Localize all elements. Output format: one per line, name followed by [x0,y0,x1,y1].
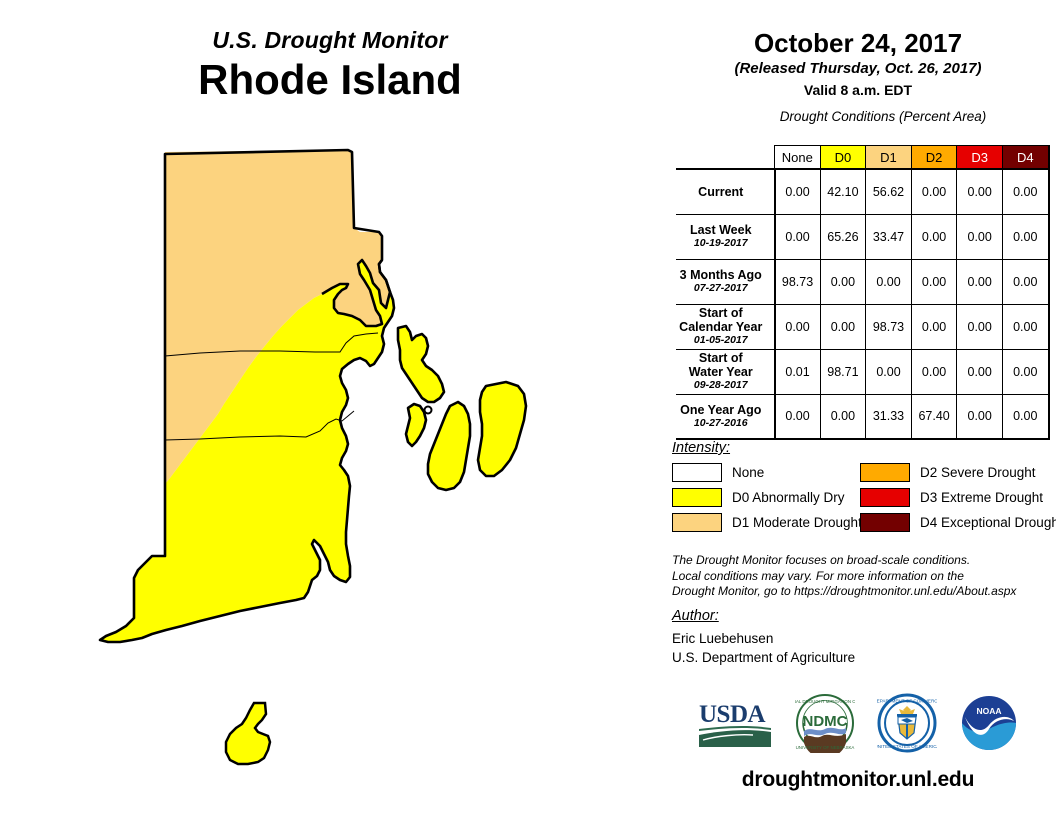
cell-d3: 0.00 [957,394,1003,439]
table-row: One Year Ago10-27-20160.000.0031.3367.40… [676,394,1049,439]
cell-d2: 0.00 [911,169,957,214]
table-row: Last Week10-19-20170.0065.2633.470.000.0… [676,214,1049,259]
usda-logo: USDA [697,697,773,749]
column-header-d0: D0 [820,146,866,170]
cell-d3: 0.00 [957,349,1003,394]
column-header-d4: D4 [1002,146,1048,170]
table-row: Start ofCalendar Year01-05-20170.000.009… [676,304,1049,349]
release-date: (Released Thursday, Oct. 26, 2017) [660,58,1056,80]
cell-none: 0.00 [775,214,821,259]
table-row: 3 Months Ago07-27-201798.730.000.000.000… [676,259,1049,304]
map-panel: U.S. Drought Monitor Rhode Island [0,0,660,816]
map-region-d0-block-island [226,703,270,764]
map-region-d0-island-east [478,382,526,476]
cell-d1: 33.47 [866,214,912,259]
map-islet-dot [425,407,432,414]
issue-date: October 24, 2017 [660,28,1056,58]
legend-swatch-none [672,463,722,482]
cell-d0: 65.26 [820,214,866,259]
cell-d4: 0.00 [1002,214,1048,259]
table-corner-cell [676,146,775,170]
row-label-text: 3 Months Ago [680,268,762,282]
date-block: October 24, 2017 (Released Thursday, Oct… [660,0,1056,100]
cell-d0: 0.00 [820,259,866,304]
cell-d4: 0.00 [1002,259,1048,304]
cell-none: 0.00 [775,304,821,349]
row-label: Start ofCalendar Year01-05-2017 [676,304,775,349]
cell-d2: 0.00 [911,304,957,349]
row-label-date: 09-28-2017 [676,379,766,392]
legend-item-d4: D4 Exceptional Drought [860,513,1056,532]
row-label: Last Week10-19-2017 [676,214,775,259]
cell-d2: 0.00 [911,259,957,304]
map-region-d0-islands-west [398,326,444,402]
svg-text:UNIVERSITY OF NEBRASKA: UNIVERSITY OF NEBRASKA [796,745,855,750]
row-label-date: 10-27-2016 [676,417,766,430]
svg-text:UNITED STATES OF AMERICA: UNITED STATES OF AMERICA [877,744,937,749]
row-label-date: 07-27-2017 [676,282,766,295]
legend-label-d0: D0 Abnormally Dry [732,490,845,505]
noaa-logo: NOAA [959,693,1019,753]
row-label: 3 Months Ago07-27-2017 [676,259,775,304]
row-label-text: Current [698,185,743,199]
column-header-none: None [775,146,821,170]
author-agency: U.S. Department of Agriculture [672,648,1056,667]
table-body: Current0.0042.1056.620.000.000.00Last We… [676,169,1049,439]
row-label-text: Start ofWater Year [689,351,753,379]
row-label-date: 10-19-2017 [676,237,766,250]
ndmc-logo: NDMC NATIONAL DROUGHT MITIGATION CENTER … [795,693,855,753]
row-label-text: One Year Ago [680,403,761,417]
row-label: One Year Ago10-27-2016 [676,394,775,439]
cell-d3: 0.00 [957,214,1003,259]
table-header: None D0 D1 D2 D3 D4 [676,146,1049,170]
cell-d2: 67.40 [911,394,957,439]
cell-d2: 0.00 [911,349,957,394]
cell-d0: 42.10 [820,169,866,214]
table-row: Current0.0042.1056.620.000.000.00 [676,169,1049,214]
legend-label-d4: D4 Exceptional Drought [920,515,1056,530]
cell-d3: 0.00 [957,304,1003,349]
cell-d0: 98.71 [820,349,866,394]
table-header-row: None D0 D1 D2 D3 D4 [676,146,1049,170]
cell-d0: 0.00 [820,304,866,349]
legend-swatch-d1 [672,513,722,532]
logo-row: USDA NDMC NATIONAL DROUGHT MITIGATION CE… [660,693,1056,753]
legend-item-none: None [672,463,860,482]
legend-swatch-d3 [860,488,910,507]
svg-text:NDMC: NDMC [803,713,848,730]
cell-none: 0.01 [775,349,821,394]
legend-label-none: None [732,465,764,480]
svg-text:DEPARTMENT OF COMMERCE: DEPARTMENT OF COMMERCE [877,699,937,704]
doc-seal-logo: DEPARTMENT OF COMMERCE UNITED STATES OF … [877,693,937,753]
row-label: Current [676,169,775,214]
legend-item-d3: D3 Extreme Drought [860,488,1056,507]
legend-label-d1: D1 Moderate Drought [732,515,862,530]
cell-d1: 0.00 [866,349,912,394]
column-header-d3: D3 [957,146,1003,170]
row-label-text: Last Week [690,223,752,237]
info-panel: October 24, 2017 (Released Thursday, Oct… [660,0,1056,816]
notes-line-2: Local conditions may vary. For more info… [672,569,1056,585]
legend-grid: NoneD2 Severe DroughtD0 Abnormally DryD3… [672,463,1056,532]
title-block: U.S. Drought Monitor Rhode Island [0,26,660,104]
column-header-d2: D2 [911,146,957,170]
legend-title: Intensity: [672,440,1056,456]
cell-d4: 0.00 [1002,394,1048,439]
cell-none: 0.00 [775,169,821,214]
row-label-date: 01-05-2017 [676,334,766,347]
legend-swatch-d0 [672,488,722,507]
legend: Intensity: NoneD2 Severe DroughtD0 Abnor… [672,440,1056,532]
legend-item-d0: D0 Abnormally Dry [672,488,860,507]
notes-line-1: The Drought Monitor focuses on broad-sca… [672,553,1056,569]
notes-line-3: Drought Monitor, go to https://droughtmo… [672,584,1056,600]
legend-label-d2: D2 Severe Drought [920,465,1036,480]
svg-text:NOAA: NOAA [976,706,1001,716]
svg-text:USDA: USDA [699,701,766,728]
cell-d3: 0.00 [957,169,1003,214]
notes-block: The Drought Monitor focuses on broad-sca… [672,553,1056,600]
legend-item-d1: D1 Moderate Drought [672,513,860,532]
cell-none: 0.00 [775,394,821,439]
cell-d1: 31.33 [866,394,912,439]
valid-time: Valid 8 a.m. EDT [660,80,1056,100]
page-title-program: U.S. Drought Monitor [0,26,660,54]
table-row: Start ofWater Year09-28-20170.0198.710.0… [676,349,1049,394]
cell-d4: 0.00 [1002,304,1048,349]
row-label-text: Start ofCalendar Year [679,306,762,334]
author-name: Eric Luebehusen [672,629,1056,648]
cell-d1: 0.00 [866,259,912,304]
legend-swatch-d2 [860,463,910,482]
drought-conditions-table: None D0 D1 D2 D3 D4 Current0.0042.1056.6… [676,145,1050,440]
cell-d0: 0.00 [820,394,866,439]
legend-item-d2: D2 Severe Drought [860,463,1056,482]
legend-label-d3: D3 Extreme Drought [920,490,1043,505]
cell-d4: 0.00 [1002,349,1048,394]
cell-none: 98.73 [775,259,821,304]
cell-d2: 0.00 [911,214,957,259]
cell-d1: 56.62 [866,169,912,214]
column-header-d1: D1 [866,146,912,170]
row-label: Start ofWater Year09-28-2017 [676,349,775,394]
legend-swatch-d4 [860,513,910,532]
cell-d1: 98.73 [866,304,912,349]
cell-d3: 0.00 [957,259,1003,304]
author-title: Author: [672,608,1056,624]
cell-d4: 0.00 [1002,169,1048,214]
site-url[interactable]: droughtmonitor.unl.edu [660,768,1056,792]
page-title-state: Rhode Island [0,56,660,104]
drought-map[interactable] [90,140,590,790]
author-block: Author: Eric Luebehusen U.S. Department … [672,608,1056,667]
svg-text:NATIONAL DROUGHT MITIGATION CE: NATIONAL DROUGHT MITIGATION CENTER [795,699,855,704]
table-caption: Drought Conditions (Percent Area) [710,109,1056,124]
